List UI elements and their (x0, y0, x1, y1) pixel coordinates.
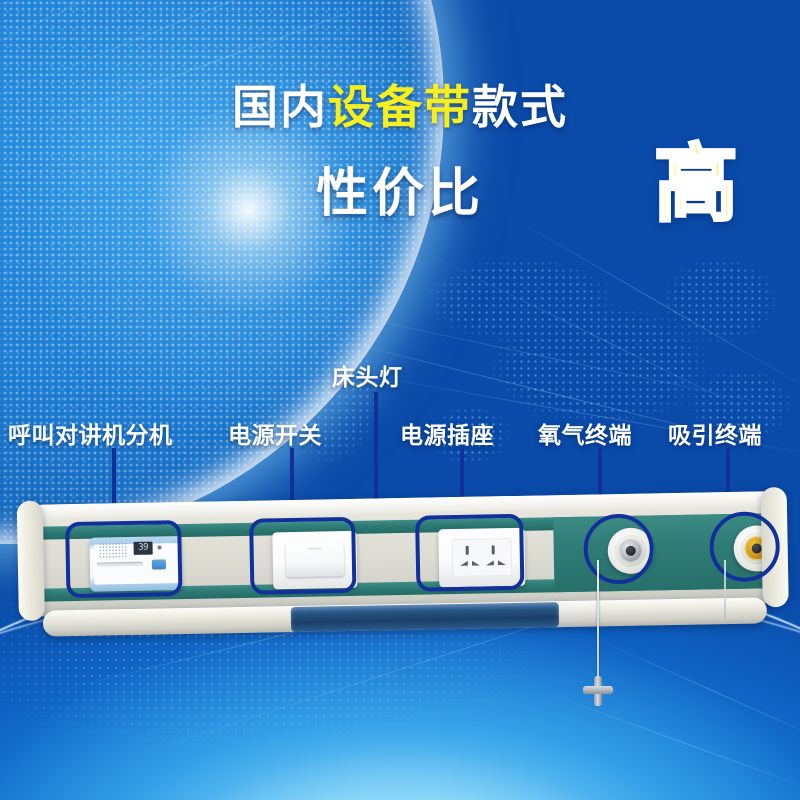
callout-label-bed-lamp: 床头灯 (332, 358, 403, 392)
headline-emphasis-character: 高 (654, 142, 738, 226)
highlight-box-switch (249, 517, 356, 595)
headline-subtitle: 性价比 (316, 165, 484, 223)
promo-image-canvas: 国内设备带款式 性价比 高 呼叫对讲机分机 电源开关 床头灯 电源插座 氧气终端… (0, 0, 800, 800)
pull-cord-handle-horizontal (583, 686, 613, 694)
light-streak (0, 0, 480, 71)
light-streak (0, 0, 400, 41)
callout-label-intercom: 呼叫对讲机分机 (8, 416, 173, 450)
medical-bed-head-panel: 39 (17, 485, 790, 649)
panel-end-cap-left (17, 501, 45, 621)
highlight-box-socket (415, 514, 524, 592)
light-streak (500, 210, 800, 401)
bed-lamp-strip[interactable] (291, 602, 559, 632)
headline-line-1: 国内设备带款式 (0, 84, 800, 130)
headline-part-1: 国内 (232, 81, 328, 133)
pull-cord-line[interactable] (597, 560, 599, 682)
highlight-box-intercom (65, 520, 182, 598)
callout-label-suction: 吸引终端 (668, 416, 762, 450)
pull-cord-handle[interactable] (583, 676, 613, 706)
headline-part-2: 设备带 (328, 81, 472, 133)
callout-label-switch: 电源开关 (228, 416, 322, 450)
headline-part-3: 款式 (472, 81, 568, 133)
callout-label-socket: 电源插座 (400, 416, 494, 450)
suction-hose-line (724, 560, 726, 620)
callout-label-oxygen: 氧气终端 (538, 416, 632, 450)
